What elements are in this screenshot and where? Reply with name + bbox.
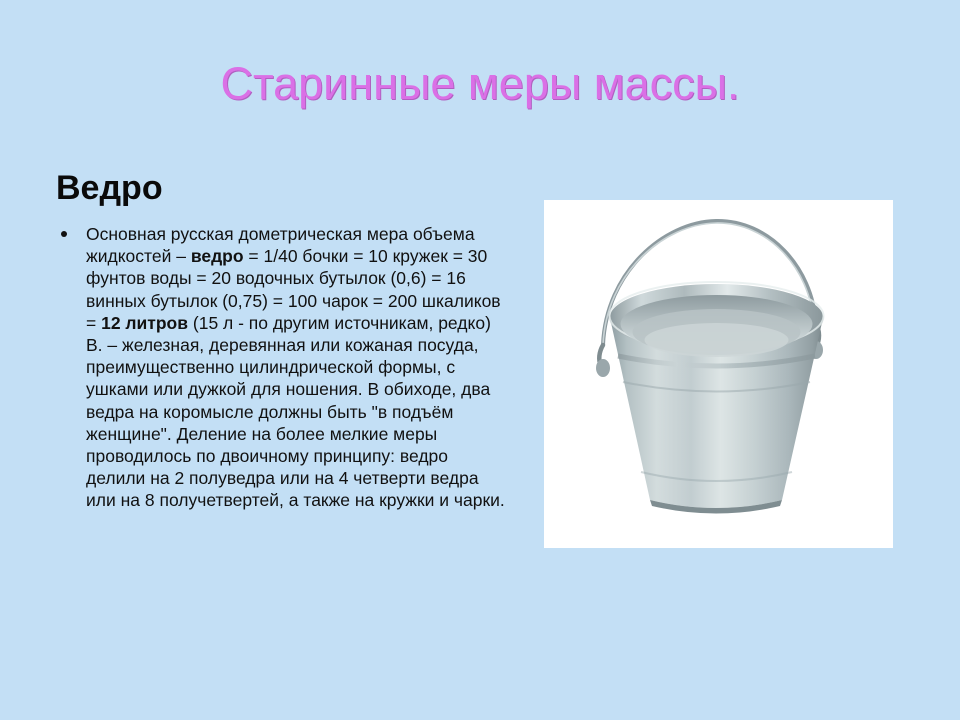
bullet-list: Основная русская дометрическая мера объе… bbox=[56, 223, 506, 512]
body-text: (15 л - по другим источникам, редко) В. … bbox=[86, 313, 505, 511]
bucket-interior-bottom bbox=[645, 323, 789, 357]
presentation-slide: Старинные меры массы. Ведро Основная рус… bbox=[0, 0, 960, 720]
bucket-photo-panel bbox=[544, 200, 893, 548]
bullet-dot-icon bbox=[61, 231, 67, 237]
page-title: Старинные меры массы. bbox=[0, 58, 960, 110]
bucket-illustration bbox=[544, 200, 893, 548]
list-item-text: Основная русская дометрическая мера объе… bbox=[86, 223, 506, 512]
handle-left-ear-icon bbox=[596, 359, 610, 377]
list-item: Основная русская дометрическая мера объе… bbox=[56, 223, 506, 512]
emphasis-text: 12 литров bbox=[101, 313, 188, 333]
section-heading: Ведро bbox=[56, 168, 163, 208]
emphasis-text: ведро bbox=[191, 246, 244, 266]
